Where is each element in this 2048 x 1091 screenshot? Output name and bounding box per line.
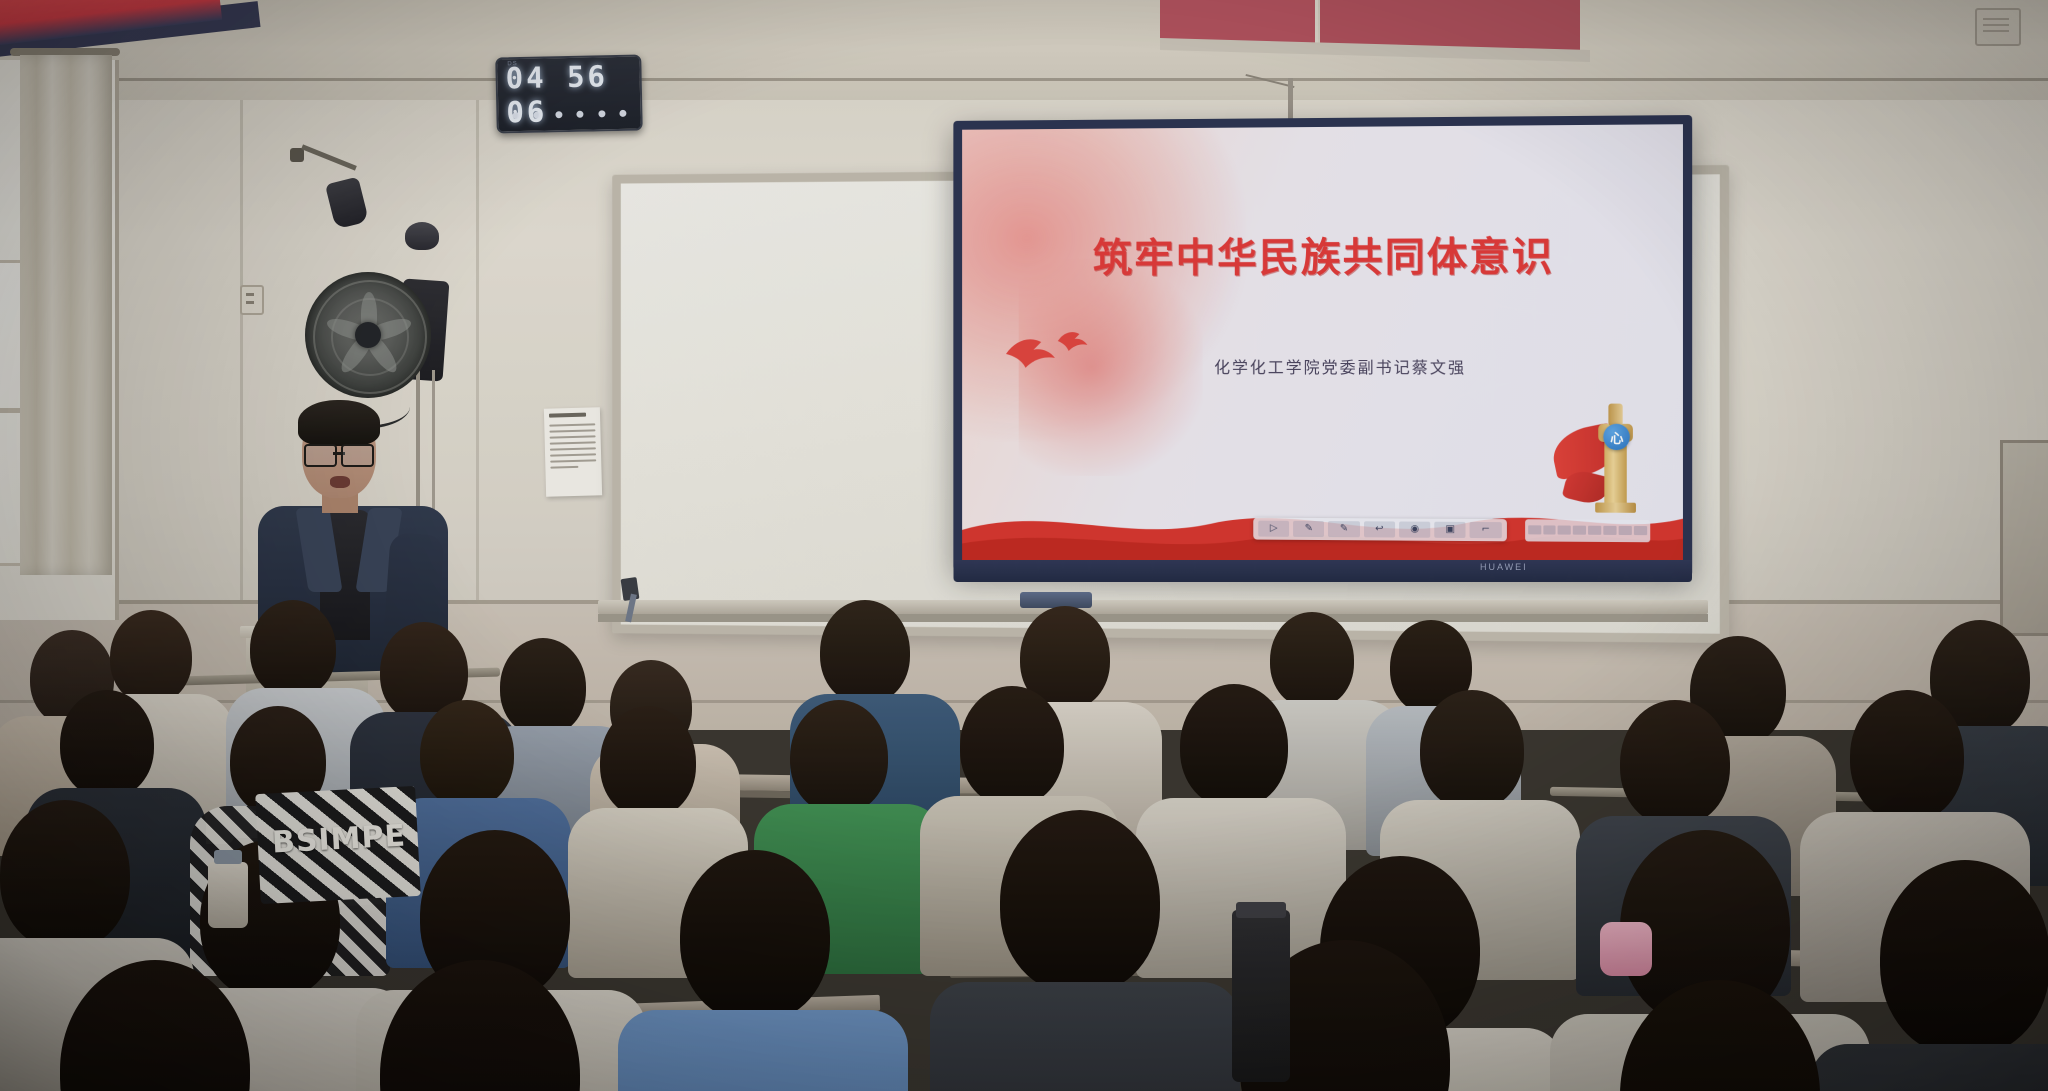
student-head: [0, 800, 130, 950]
student-head: [1180, 684, 1288, 808]
student-head: [380, 960, 580, 1091]
exit-icon[interactable]: ⌐: [1470, 522, 1502, 538]
status-segment: [1543, 526, 1556, 535]
status-segment: [1634, 526, 1647, 535]
wall-seam-1: [240, 100, 243, 660]
student-head: [600, 706, 696, 818]
jacket-text-label: BSIMPE: [265, 818, 413, 860]
dove-small-icon: [1057, 328, 1090, 354]
student-head: [1270, 612, 1354, 708]
whiteboard-tray-lip: [598, 614, 1708, 622]
screen-brand-label: HUAWEI: [1480, 562, 1528, 572]
student-body: [930, 982, 1240, 1091]
left-curtain: [20, 55, 112, 575]
undo-icon[interactable]: ↩: [1364, 521, 1395, 537]
bottle-cap: [214, 850, 242, 864]
water-bottle: [208, 862, 248, 928]
status-segment: [1528, 526, 1541, 535]
student-head: [250, 600, 336, 698]
fan-hub: [355, 322, 381, 348]
pen-icon[interactable]: ✎: [1293, 521, 1324, 537]
whiteboard-tray: [598, 600, 1708, 614]
ceiling-air-vent-icon: [1975, 8, 2021, 46]
student-head: [820, 600, 910, 704]
presentation-slide: 筑牢中华民族共同体意识 化学化工学院党委副书记蔡文强 心 ▷: [962, 124, 1683, 567]
smart-display-screen[interactable]: 筑牢中华民族共同体意识 化学化工学院党委副书记蔡文强 心 ▷: [953, 115, 1692, 576]
student-head: [790, 700, 888, 814]
pointer-icon[interactable]: ▷: [1258, 521, 1289, 537]
thermos-bottle: [1232, 910, 1290, 1082]
student-head: [1850, 690, 1964, 822]
pillar-base: [1595, 503, 1636, 513]
slide-subtitle: 化学化工学院党委副书记蔡文强: [1033, 354, 1654, 378]
presenter-mouth: [330, 476, 350, 488]
student-body: [618, 1010, 908, 1091]
student-head: [500, 638, 586, 736]
wall-posted-notice: [544, 407, 602, 496]
student-head: [960, 686, 1064, 806]
golden-pillar-emblem: 心: [1587, 403, 1642, 509]
page-icon[interactable]: ▣: [1434, 522, 1465, 538]
pink-pouch: [1600, 922, 1652, 976]
student-head: [420, 700, 514, 808]
wall-power-socket-icon: [240, 285, 264, 315]
ceiling-speaker-right: [405, 222, 439, 250]
student-head: [60, 690, 154, 798]
status-segment: [1558, 526, 1571, 535]
lecture-hall-photo: DS 04 56 06: [0, 0, 2048, 1091]
status-segment: [1618, 526, 1631, 535]
speaker-mount: [290, 148, 304, 162]
right-window: [2000, 440, 2048, 636]
slide-title: 筑牢中华民族共同体意识: [1008, 237, 1642, 279]
student-head: [1620, 700, 1730, 826]
student-head: [1420, 690, 1524, 810]
highlighter-icon[interactable]: ✎: [1328, 521, 1359, 537]
wall-digital-clock: DS 04 56 06: [495, 54, 643, 133]
screen-inner: 筑牢中华民族共同体意识 化学化工学院党委副书记蔡文强 心 ▷: [962, 124, 1683, 567]
status-segment: [1573, 526, 1586, 535]
wall-seam-2: [476, 100, 479, 660]
wall-mounted-fan-icon: [305, 272, 440, 398]
status-segment: [1588, 526, 1601, 535]
presentation-status-bar[interactable]: [1525, 519, 1650, 542]
student-head: [1000, 810, 1160, 994]
presentation-control-bar[interactable]: ▷ ✎ ✎ ↩ ◉ ▣ ⌐: [1253, 518, 1506, 542]
student-head: [680, 850, 830, 1022]
presenter-glasses-icon: [304, 444, 374, 463]
thermos-cap: [1236, 902, 1286, 918]
screen-bottom-bezel: [953, 560, 1692, 582]
whiteboard-eraser[interactable]: [1020, 592, 1092, 608]
laser-icon[interactable]: ◉: [1399, 521, 1430, 537]
pillar-finial: [1609, 404, 1623, 426]
status-segment: [1603, 526, 1616, 535]
student-head: [110, 610, 192, 704]
ceiling-seam: [0, 78, 2048, 81]
student-body: [1810, 1044, 2048, 1091]
presenter-hair: [298, 400, 380, 446]
student-head: [1880, 860, 2048, 1056]
